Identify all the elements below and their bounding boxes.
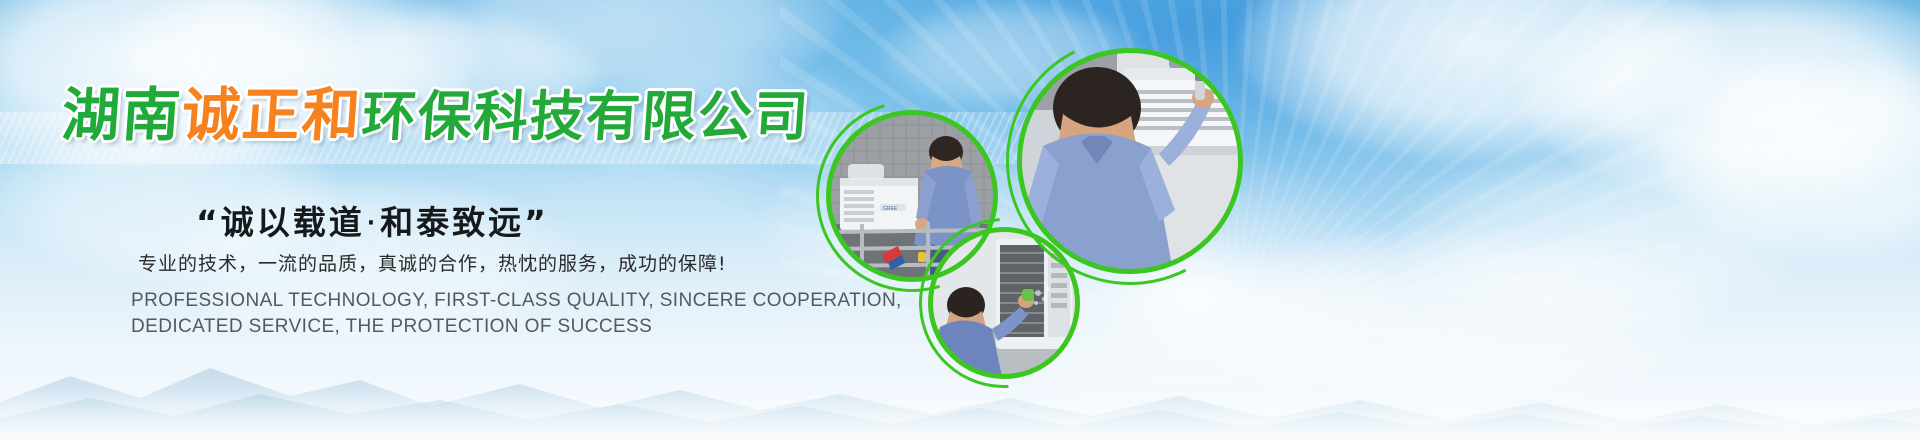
company-hero-banner: 湖南诚正和环保科技有限公司 “诚以载道·和泰致远” 专业的技术，一流的品质，真诚… bbox=[0, 0, 1920, 440]
svg-text:GREE: GREE bbox=[883, 206, 898, 212]
photo-collage: GREE bbox=[0, 0, 1920, 440]
photo-3-artwork bbox=[930, 229, 1078, 377]
photo-technician-cleaning-condenser bbox=[930, 229, 1078, 377]
